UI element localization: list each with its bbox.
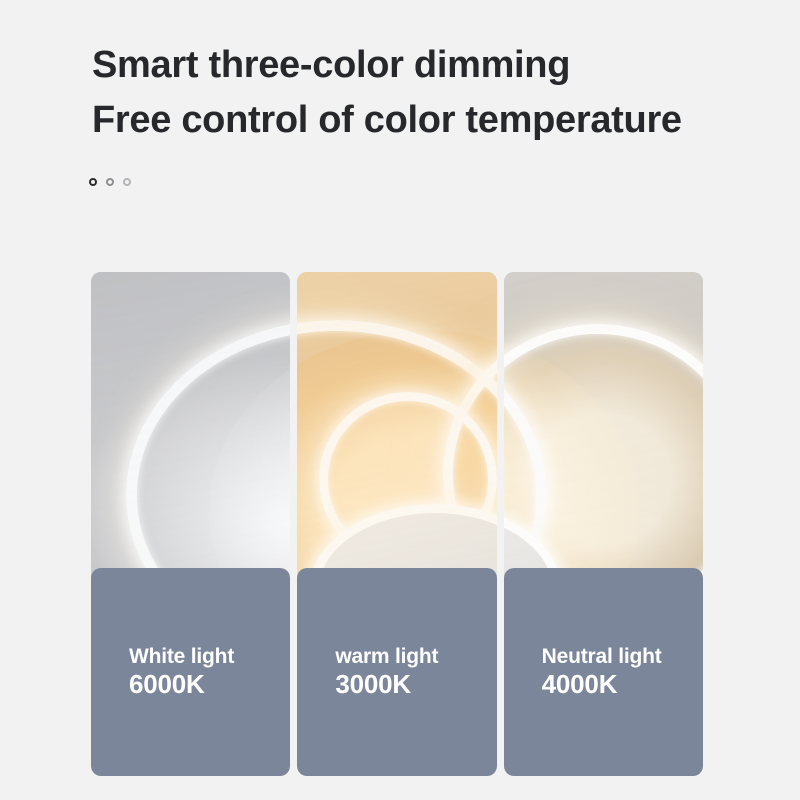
page-title: Smart three-color dimming Free control o… bbox=[92, 38, 772, 148]
caption-kelvin: 3000K bbox=[335, 670, 496, 699]
panel-neutral-light[interactable]: Neutral light 4000K bbox=[504, 272, 703, 776]
panel-white-light[interactable]: White light 6000K bbox=[91, 272, 290, 776]
carousel-dots bbox=[89, 178, 131, 186]
caption-bar-white-light: White light 6000K bbox=[91, 568, 290, 776]
headline-line-2: Free control of color temperature bbox=[92, 93, 772, 148]
carousel-dot-icon-3[interactable] bbox=[123, 178, 131, 186]
caption-title: Neutral light bbox=[542, 645, 703, 670]
color-temperature-gallery: White light 6000K warm light 3000K bbox=[91, 272, 703, 776]
caption-title: warm light bbox=[335, 645, 496, 670]
caption-bar-neutral-light: Neutral light 4000K bbox=[504, 568, 703, 776]
panel-warm-light[interactable]: warm light 3000K bbox=[297, 272, 496, 776]
caption-title: White light bbox=[129, 645, 290, 670]
carousel-dot-icon-1[interactable] bbox=[89, 178, 97, 186]
caption-bar-warm-light: warm light 3000K bbox=[297, 568, 496, 776]
caption-kelvin: 4000K bbox=[542, 670, 703, 699]
headline-line-1: Smart three-color dimming bbox=[92, 38, 772, 93]
caption-kelvin: 6000K bbox=[129, 670, 290, 699]
carousel-dot-icon-2[interactable] bbox=[106, 178, 114, 186]
